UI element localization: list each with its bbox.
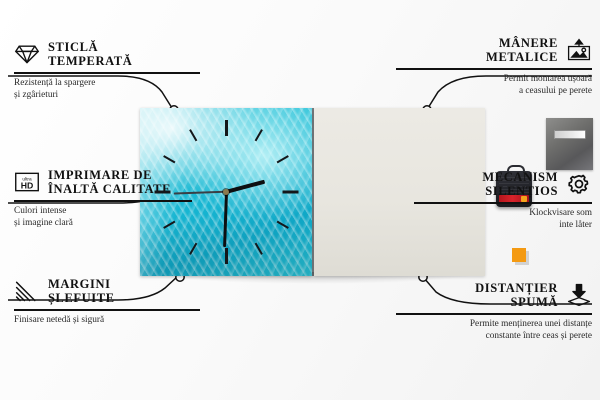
callout-subtitle: Permit montarea ușoară a ceasului pe per… <box>396 73 592 98</box>
callout-distantier-spuma: DISTANȚIER SPUMĂ Permite menținerea unei… <box>396 281 592 343</box>
title-line: ȘLEFUITE <box>48 291 115 305</box>
divider <box>396 313 592 315</box>
callout-subtitle: Rezistență la spargere și zgârieturi <box>14 77 214 102</box>
metal-hanger-plate <box>546 118 593 170</box>
clock-dial <box>140 108 312 276</box>
callout-title: DISTANȚIER SPUMĂ <box>475 281 558 309</box>
title-line: MECANISM <box>482 170 558 184</box>
clock-center-hub <box>223 189 229 195</box>
subtitle-line: Rezistență la spargere <box>14 77 214 90</box>
divider <box>14 72 200 74</box>
divider <box>14 309 200 311</box>
title-line: SPUMĂ <box>511 295 558 309</box>
spacer-arrow-icon <box>566 283 592 307</box>
title-line: MÂNERE <box>499 36 558 50</box>
title-line: TEMPERATĂ <box>48 54 132 68</box>
subtitle-line: inte låter <box>414 219 592 232</box>
callout-subtitle: Permite menținerea unei distanțe constan… <box>396 318 592 343</box>
divider <box>396 68 592 70</box>
clock-tick <box>163 155 175 163</box>
picture-hanging-icon <box>566 38 592 62</box>
callout-sticla-temperata: STICLĂ TEMPERATĂ Rezistență la spargere … <box>14 40 214 102</box>
callout-subtitle: Klockvisare som inte låter <box>414 207 592 232</box>
clock-second-hand <box>174 191 226 194</box>
clock-tick <box>189 129 197 141</box>
gear-icon <box>566 172 592 196</box>
callout-title: MARGINI ȘLEFUITE <box>48 277 115 305</box>
svg-text:HD: HD <box>21 181 34 191</box>
title-line: SILENȚIOS <box>485 184 558 198</box>
hanger-slot <box>554 130 586 139</box>
callout-manere-metalice: MÂNERE METALICE Permit montarea ușoară a… <box>396 36 592 98</box>
callout-title: STICLĂ TEMPERATĂ <box>48 40 132 68</box>
subtitle-line: Finisare netedă și sigură <box>14 314 214 327</box>
clock-tick <box>255 129 263 141</box>
clock-tick <box>277 221 289 229</box>
clock-tick <box>282 191 298 194</box>
clock-tick <box>154 191 170 194</box>
subtitle-line: și zgârieturi <box>14 89 214 102</box>
diamond-icon <box>14 42 40 66</box>
clock-tick <box>225 120 228 136</box>
callout-margini-slefuite: MARGINI ȘLEFUITE Finisare netedă și sigu… <box>14 277 214 326</box>
infographic-stage: STICLĂ TEMPERATĂ Rezistență la spargere … <box>0 0 600 400</box>
title-line: STICLĂ <box>48 40 132 54</box>
clock-tick <box>163 221 175 229</box>
clock-front-panel <box>140 108 312 276</box>
clock-tick <box>189 243 197 255</box>
callout-subtitle: Finisare netedă și sigură <box>14 314 214 327</box>
subtitle-line: Klockvisare som <box>414 207 592 220</box>
subtitle-line: constante între ceas și perete <box>396 330 592 343</box>
callout-mecanism-silentios: MECANISM SILENȚIOS Klockvisare som inte … <box>414 170 592 232</box>
callout-title: MÂNERE METALICE <box>486 36 558 64</box>
clock-tick <box>255 243 263 255</box>
foam-spacer <box>512 248 526 262</box>
ultra-hd-icon: ultra HD <box>14 170 40 194</box>
divider <box>414 202 592 204</box>
subtitle-line: Permit montarea ușoară <box>396 73 592 86</box>
clock-tick <box>277 155 289 163</box>
clock-hour-hand <box>225 180 265 194</box>
title-line: METALICE <box>486 50 558 64</box>
title-line: MARGINI <box>48 277 115 291</box>
subtitle-line: Permite menținerea unei distanțe <box>396 318 592 331</box>
polished-edges-icon <box>14 279 40 303</box>
callout-title: MECANISM SILENȚIOS <box>482 170 558 198</box>
clock-tick <box>225 248 228 264</box>
clock-minute-hand <box>223 192 228 247</box>
title-line: DISTANȚIER <box>475 281 558 295</box>
subtitle-line: a ceasului pe perete <box>396 85 592 98</box>
